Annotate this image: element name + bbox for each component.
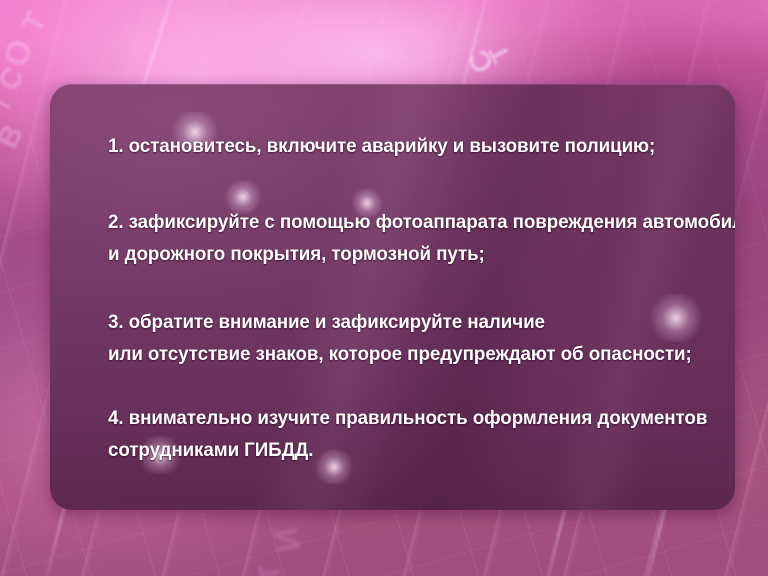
instruction-item-3: 3. обратите внимание и зафиксируйте нали… — [108, 306, 717, 370]
instruction-item-3-line-2: или отсутствие знаков, которое предупреж… — [108, 338, 696, 370]
instruction-item-4-line-2: сотрудниками ГИБДД. — [108, 434, 696, 466]
instruction-item-1: 1. остановитесь, включите аварийку и выз… — [108, 130, 717, 162]
slide-canvas: ТОСТВСТОНИТИТНО 1. остановитесь, включит… — [0, 0, 768, 576]
instruction-item-2: 2. зафиксируйте с помощью фотоаппарата п… — [108, 206, 717, 270]
instruction-item-4-line-1: 4. внимательно изучите правильность офор… — [108, 402, 696, 434]
content-panel: 1. остановитесь, включите аварийку и выз… — [50, 84, 735, 510]
instruction-list: 1. остановитесь, включите аварийку и выз… — [50, 84, 735, 510]
instruction-item-4: 4. внимательно изучите правильность офор… — [108, 402, 717, 466]
instruction-item-3-line-1: 3. обратите внимание и зафиксируйте нали… — [108, 306, 696, 338]
instruction-item-2-line-2: и дорожного покрытия, тормозной путь; — [108, 238, 696, 270]
instruction-item-1-line-1: 1. остановитесь, включите аварийку и выз… — [108, 130, 696, 162]
instruction-item-2-line-1: 2. зафиксируйте с помощью фотоаппарата п… — [108, 206, 696, 238]
